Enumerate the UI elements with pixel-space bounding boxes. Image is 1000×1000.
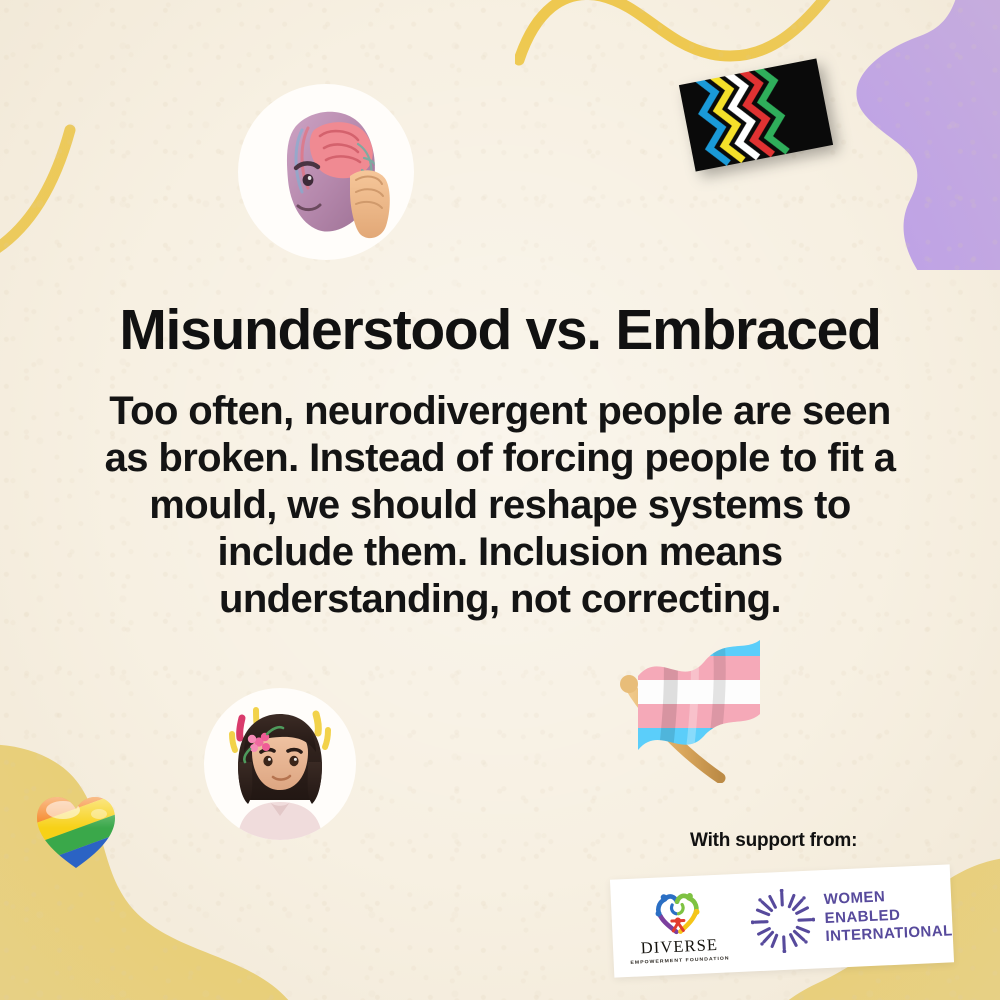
body-line: as broken. Instead of forcing people to … xyxy=(46,435,954,482)
body-line: include them. Inclusion means xyxy=(46,529,954,576)
disability-pride-flag xyxy=(679,58,833,171)
supporter-logo-strip: DIVERSE EMPOWERMENT FOUNDATION xyxy=(610,864,954,977)
body-line: Too often, neurodivergent people are see… xyxy=(46,388,954,435)
body-copy: Too often, neurodivergent people are see… xyxy=(46,388,954,624)
head-with-brain-emoji xyxy=(238,84,414,260)
wei-wordmark: WOMEN ENABLED INTERNATIONAL xyxy=(823,885,953,946)
yellow-wave-line xyxy=(515,0,905,72)
diverse-wordmark: DIVERSE xyxy=(640,937,718,957)
heart-of-people-icon xyxy=(651,887,705,937)
page-title: Misunderstood vs. Embraced xyxy=(46,300,954,362)
woman-with-flower-emoji xyxy=(204,688,356,840)
diverse-subtitle: EMPOWERMENT FOUNDATION xyxy=(630,956,729,965)
women-enabled-international-logo: WOMEN ENABLED INTERNATIONAL xyxy=(749,881,953,954)
yellow-curve-line xyxy=(0,118,122,293)
transgender-pride-flag xyxy=(612,618,772,783)
poster-canvas: Misunderstood vs. Embraced Too often, ne… xyxy=(0,0,1000,1000)
support-label: With support from: xyxy=(690,830,857,852)
rainbow-heart-emoji xyxy=(33,792,119,872)
text-block: Misunderstood vs. Embraced Too often, ne… xyxy=(0,300,1000,623)
body-line: understanding, not correcting. xyxy=(46,576,954,623)
body-line: mould, we should reshape systems to xyxy=(46,482,954,529)
sunburst-icon xyxy=(749,888,816,955)
diverse-logo: DIVERSE EMPOWERMENT FOUNDATION xyxy=(626,880,731,970)
